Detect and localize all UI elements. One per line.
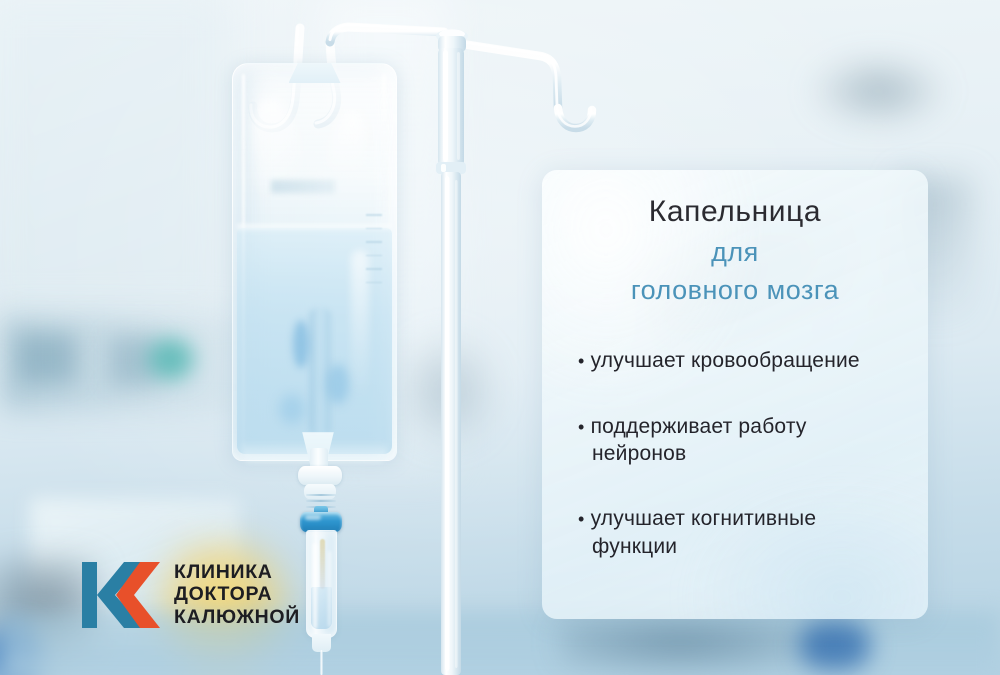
- list-item-text: улучшает когнитивные функции: [591, 507, 817, 557]
- drip-chamber: [306, 530, 337, 638]
- list-item: • улучшает когнитивные функции: [578, 505, 906, 560]
- logo-line-2: ДОКТОРА: [174, 584, 300, 605]
- list-item: • улучшает кровообращение: [578, 347, 906, 374]
- clinic-logo: КЛИНИКА ДОКТОРА КАЛЮЖНОЙ: [80, 556, 300, 634]
- list-item-text: поддерживает работу нейронов: [591, 415, 807, 465]
- list-item: • поддерживает работу нейронов: [578, 413, 906, 468]
- clinic-logo-text: КЛИНИКА ДОКТОРА КАЛЮЖНОЙ: [174, 562, 300, 627]
- banner-canvas: Капельница для головного мозга • улучшае…: [0, 0, 1000, 675]
- logo-line-1: КЛИНИКА: [174, 562, 300, 583]
- iv-tubing: [320, 650, 323, 675]
- outlet-collar: [298, 466, 342, 485]
- title-line-1: Капельница: [564, 194, 906, 229]
- logo-line-3: КАЛЮЖНОЙ: [174, 607, 300, 628]
- logo-mark-svg: [80, 556, 162, 634]
- bullet-marker: •: [578, 417, 585, 437]
- panel-title: Капельница для головного мозга: [564, 194, 906, 307]
- double-k-chevron-mark-icon: [80, 556, 162, 634]
- title-line-2: для: [564, 235, 906, 270]
- title-line-3: головного мозга: [564, 273, 906, 308]
- benefit-list: • улучшает кровообращение • поддерживает…: [564, 347, 906, 559]
- drip-chamber-highlight-right: [328, 551, 331, 627]
- drip-chamber-spike: [320, 539, 325, 589]
- drip-chamber-highlight-left: [313, 543, 317, 629]
- bullet-marker: •: [578, 351, 585, 371]
- list-item-text: улучшает кровообращение: [591, 349, 860, 372]
- bullet-marker: •: [578, 509, 585, 529]
- info-panel: Капельница для головного мозга • улучшае…: [542, 170, 928, 619]
- blue-cap-highlight: [305, 515, 321, 520]
